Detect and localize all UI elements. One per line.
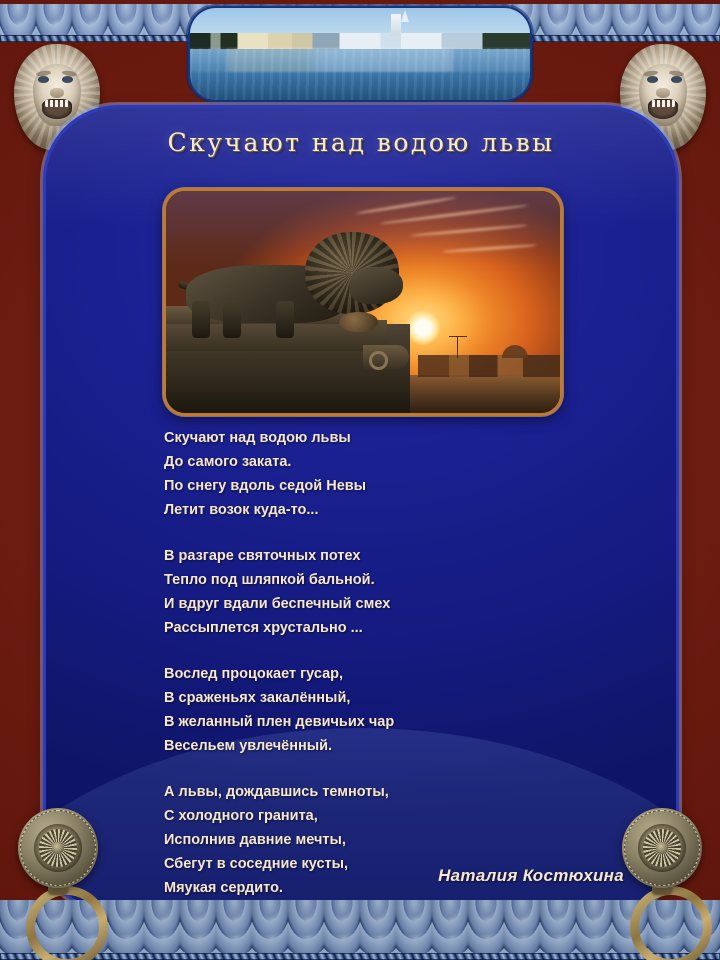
poem-line: И вдруг вдали беспечный смех xyxy=(164,592,594,616)
page-title: Скучают над водою львы xyxy=(46,128,676,157)
distant-crane xyxy=(457,336,458,358)
poem-line: Летит возок куда-то... xyxy=(164,498,594,522)
knocker-plate xyxy=(622,808,702,888)
slide-canvas: Скучают над водою львы xyxy=(0,0,720,960)
poem-line: Исполнив давние мечты, xyxy=(164,828,594,852)
lion-eye-right xyxy=(647,76,658,83)
knocker-ring xyxy=(26,886,108,960)
lion-statue xyxy=(186,235,391,328)
poem-stanza: Вослед процокает гусар, В сраженьях зака… xyxy=(164,662,594,758)
lion-teeth xyxy=(45,100,69,107)
kunstkamera-tower xyxy=(391,14,401,36)
poem-line: Тепло под шляпкой бальной. xyxy=(164,568,594,592)
poem-stanza: Скучают над водою львы До самого заката.… xyxy=(164,426,594,522)
poem-line: Вослед процокает гусар, xyxy=(164,662,594,686)
volute-scroll-ornament xyxy=(363,345,409,369)
rosette-hub xyxy=(656,842,668,854)
lion-leg xyxy=(276,301,294,338)
lion-leg xyxy=(192,301,210,338)
knocker-medallion xyxy=(638,824,686,872)
lion-eye-left xyxy=(671,76,682,83)
lion-nose xyxy=(656,88,670,98)
poem-line: По снегу вдоль седой Невы xyxy=(164,474,594,498)
tower-spire-icon xyxy=(401,10,409,22)
sun-icon xyxy=(406,311,440,345)
author-credit: Наталия Костюхина xyxy=(438,866,624,886)
knocker-ring xyxy=(630,886,712,960)
poem-line: Весельем увлечённый. xyxy=(164,734,594,758)
lion-head xyxy=(350,267,403,304)
knocker-plate xyxy=(18,808,98,888)
poem-line: В сраженьях закалённый, xyxy=(164,686,594,710)
poem-line: До самого заката. xyxy=(164,450,594,474)
poem-line: С холодного гранита, xyxy=(164,804,594,828)
panorama-skyline xyxy=(190,33,530,50)
poem-line: Рассыплется хрустально ... xyxy=(164,616,594,640)
door-knocker-icon xyxy=(614,808,710,936)
egg-and-dart-pattern xyxy=(0,900,720,960)
knocker-medallion xyxy=(34,824,82,872)
rope-braid-band xyxy=(0,953,720,960)
poem-text: Скучают над водою львы До самого заката.… xyxy=(164,426,594,900)
door-knocker-icon xyxy=(10,808,106,936)
lion-leg xyxy=(223,301,241,338)
poem-stanza: В разгаре святочных потех Тепло под шляп… xyxy=(164,544,594,640)
poem-line: А львы, дождавшись темноты, xyxy=(164,780,594,804)
lion-teeth xyxy=(651,100,675,107)
poem-line: В желанный плен девичьих чар xyxy=(164,710,594,734)
lion-eye-right xyxy=(62,76,73,83)
lion-nose xyxy=(50,88,64,98)
lion-eye-left xyxy=(38,76,49,83)
distant-skyline xyxy=(418,355,560,377)
poem-line: Скучают над водою львы xyxy=(164,426,594,450)
poem-card: Скучают над водою львы xyxy=(46,108,676,908)
rosette-hub xyxy=(52,842,64,854)
poem-line: В разгаре святочных потех xyxy=(164,544,594,568)
panorama-ice-texture xyxy=(190,48,530,100)
panorama-photo xyxy=(190,8,530,100)
lion-sunset-photo xyxy=(163,188,563,416)
bottom-ornamental-border xyxy=(0,900,720,960)
